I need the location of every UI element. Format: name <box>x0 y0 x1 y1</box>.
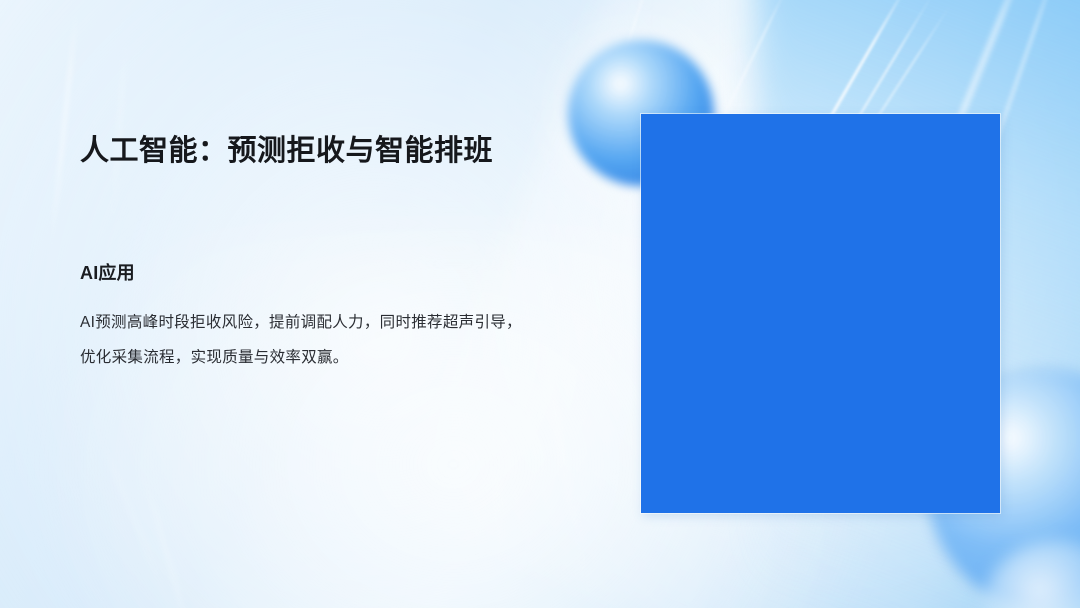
presentation-slide: 人工智能：预测拒收与智能排班 AI应用 AI预测高峰时段拒收风险，提前调配人力，… <box>0 0 1080 608</box>
slide-content: 人工智能：预测拒收与智能排班 AI应用 AI预测高峰时段拒收风险，提前调配人力，… <box>0 0 1080 608</box>
image-placeholder <box>641 114 1000 513</box>
slide-title: 人工智能：预测拒收与智能排班 <box>80 127 493 169</box>
body-paragraph: AI预测高峰时段拒收风险，提前调配人力，同时推荐超声引导，优化采集流程，实现质量… <box>80 305 532 375</box>
section-heading: AI应用 <box>80 259 135 285</box>
